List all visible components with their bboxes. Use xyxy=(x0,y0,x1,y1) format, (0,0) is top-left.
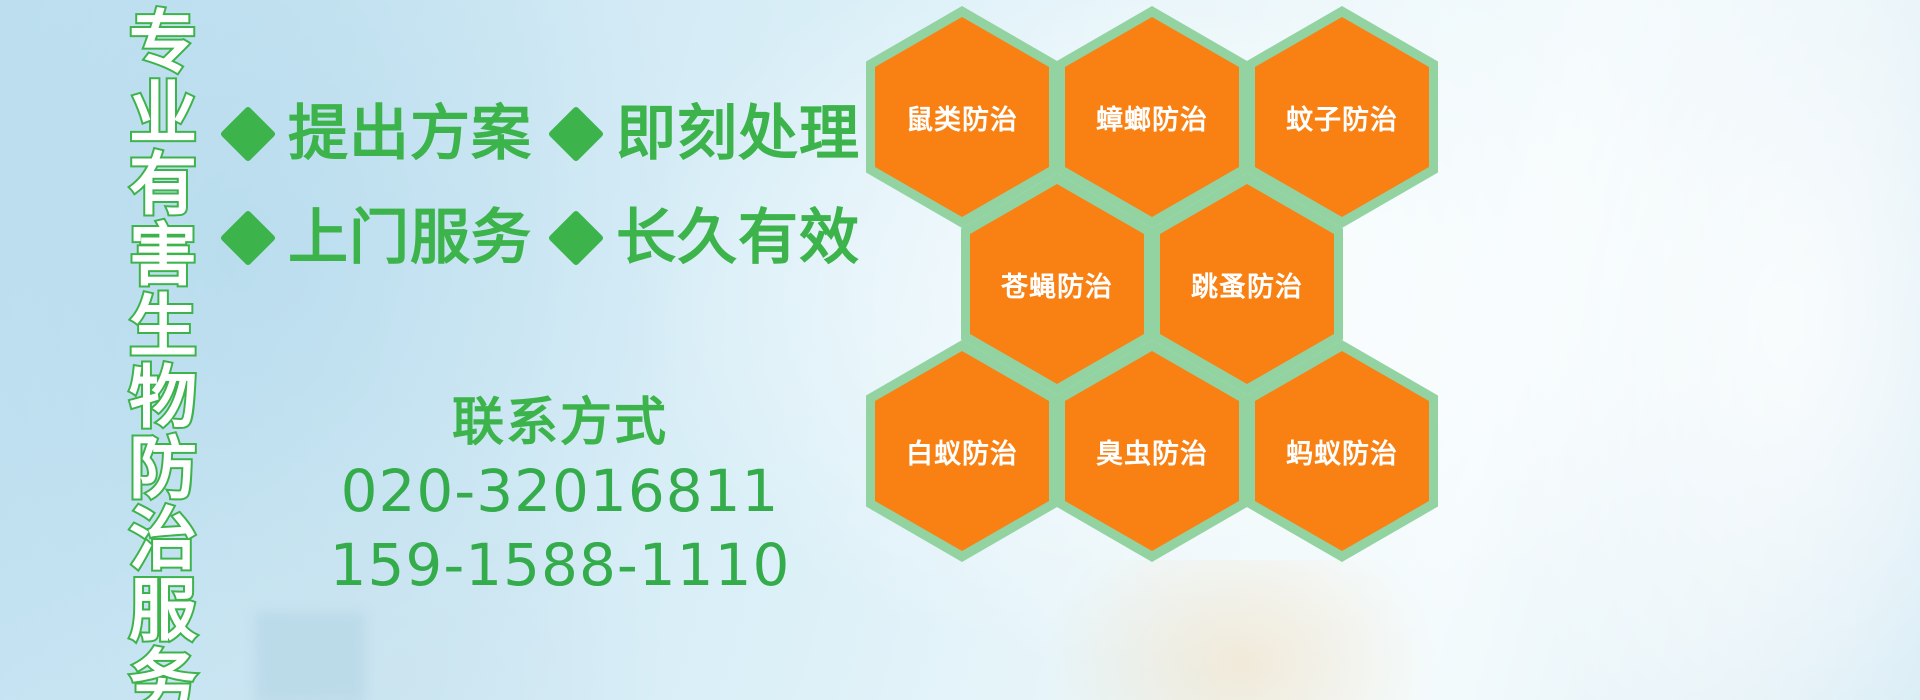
service-label: 臭虫防治 xyxy=(1056,340,1248,562)
vertical-title-char: 务 xyxy=(129,647,197,700)
pest-control-banner: 专 业 有 害 生 物 防 治 服 务 提出方案 即刻处理 上门服务 xyxy=(0,0,1920,700)
vertical-title-char: 防 xyxy=(129,434,197,505)
vertical-title-char: 业 xyxy=(129,79,197,150)
feature-label: 提出方案 xyxy=(288,104,532,164)
service-hexagon-grid: 鼠类防治 蟑螂防治 蚊子防治 苍蝇防治 跳蚤防治 白蚁防治 xyxy=(862,0,1462,700)
service-hexagon[interactable]: 白蚁防治 xyxy=(866,340,1058,562)
contact-title: 联系方式 xyxy=(300,392,820,454)
feature-label: 长久有效 xyxy=(616,208,860,268)
diamond-icon xyxy=(548,106,605,163)
service-hexagon[interactable]: 蚂蚁防治 xyxy=(1246,340,1438,562)
vertical-title-char: 害 xyxy=(129,221,197,292)
vertical-title-char: 生 xyxy=(129,292,197,363)
feature-label: 即刻处理 xyxy=(616,104,860,164)
background-blur-block xyxy=(255,612,365,700)
background-glow-right xyxy=(1480,0,1920,700)
feature-item: 即刻处理 xyxy=(556,104,860,164)
feature-list: 提出方案 即刻处理 上门服务 长久有效 xyxy=(228,82,868,290)
vertical-title-char: 治 xyxy=(129,505,197,576)
diamond-icon xyxy=(220,106,277,163)
feature-row: 提出方案 即刻处理 xyxy=(228,82,868,186)
diamond-icon xyxy=(548,210,605,267)
feature-row: 上门服务 长久有效 xyxy=(228,186,868,290)
feature-item: 上门服务 xyxy=(228,208,532,268)
contact-block: 联系方式 020-32016811 159-1588-1110 xyxy=(300,392,820,602)
diamond-icon xyxy=(220,210,277,267)
vertical-title-char: 有 xyxy=(129,150,197,221)
service-label: 白蚁防治 xyxy=(866,340,1058,562)
feature-item: 提出方案 xyxy=(228,104,532,164)
feature-item: 长久有效 xyxy=(556,208,860,268)
vertical-title-char: 专 xyxy=(129,8,197,79)
service-label: 蚂蚁防治 xyxy=(1246,340,1438,562)
phone-number-landline[interactable]: 020-32016811 xyxy=(300,454,820,528)
vertical-title: 专 业 有 害 生 物 防 治 服 务 xyxy=(108,8,218,698)
feature-label: 上门服务 xyxy=(288,208,532,268)
vertical-title-char: 服 xyxy=(129,576,197,647)
phone-number-mobile[interactable]: 159-1588-1110 xyxy=(300,528,820,602)
vertical-title-char: 物 xyxy=(129,363,197,434)
service-hexagon[interactable]: 臭虫防治 xyxy=(1056,340,1248,562)
